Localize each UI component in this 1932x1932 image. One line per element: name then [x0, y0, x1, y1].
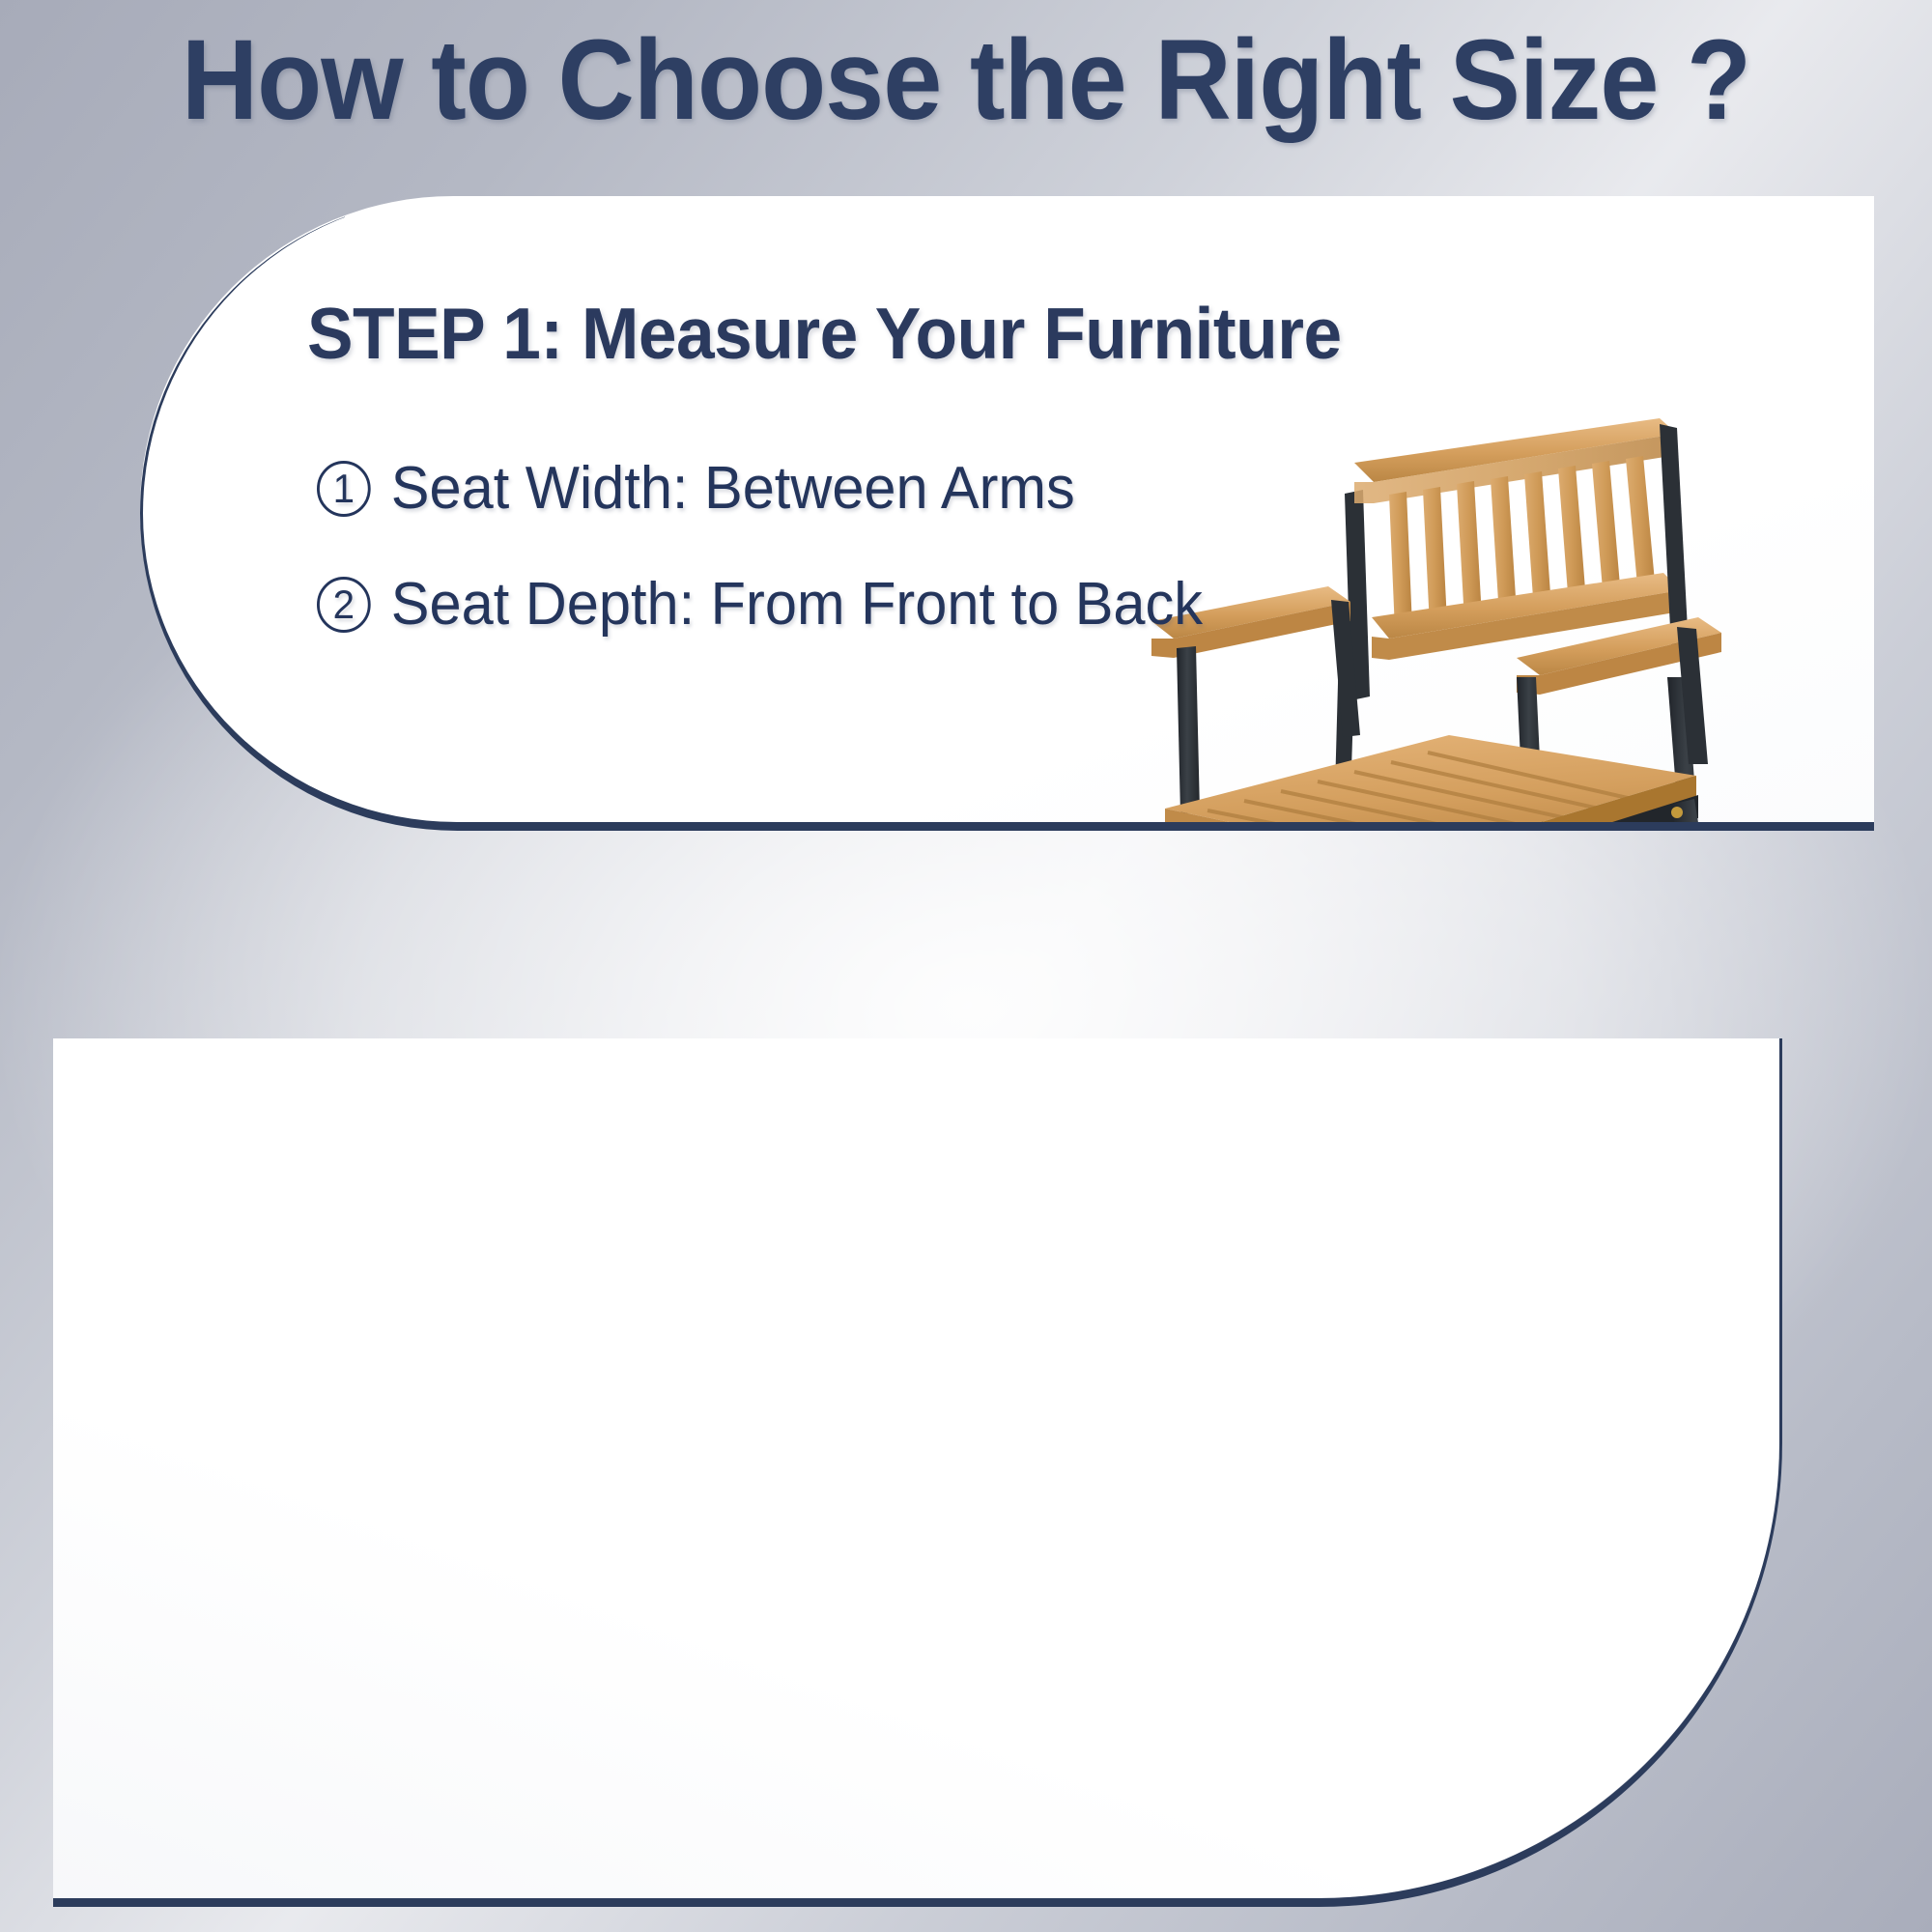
step1-heading: STEP 1: Measure Your Furniture: [307, 292, 1342, 375]
step1-bullet-1: 1 Seat Width: Between Arms: [317, 454, 1075, 523]
step1-bullet-2: 2 Seat Depth: From Front to Back: [317, 570, 1203, 639]
infographic-canvas: How to Choose the Right Size ?: [0, 0, 1932, 1932]
circled-number-2-icon: 2: [317, 577, 371, 633]
step2-card: STEP 2: Select the Cushion According to …: [53, 1038, 1782, 1898]
step1-bullet-1-label: Seat Width: Between Arms: [391, 454, 1075, 523]
circled-number-1-icon: 1: [317, 461, 371, 517]
page-title: How to Choose the Right Size ?: [68, 21, 1864, 141]
step1-bullet-2-label: Seat Depth: From Front to Back: [391, 570, 1203, 639]
chair-illustration: [1130, 358, 1806, 822]
